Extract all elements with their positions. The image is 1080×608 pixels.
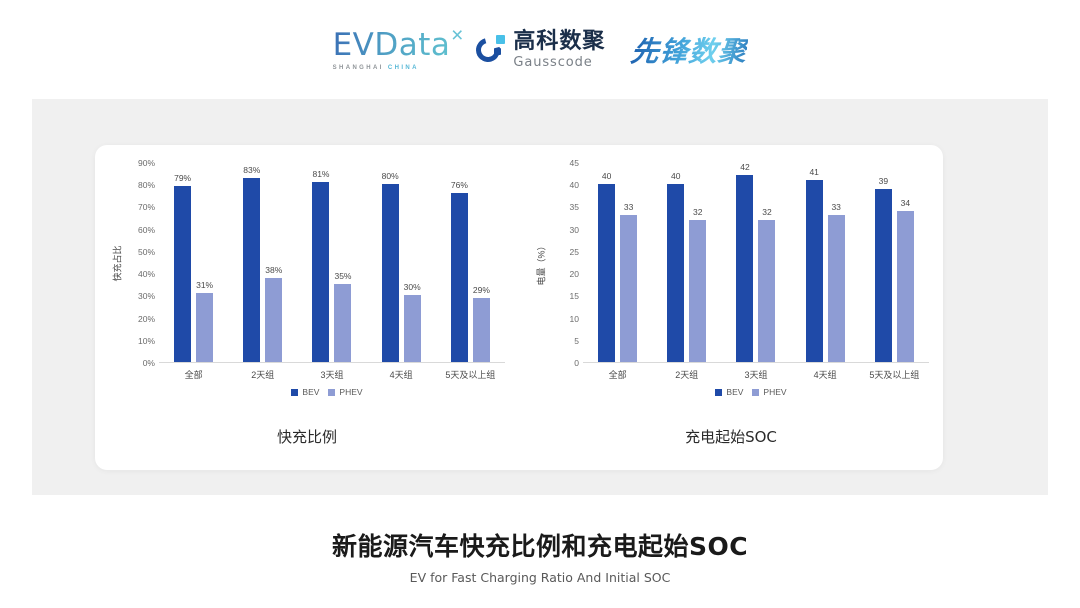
evdata-tagline-city: SHANGHAI xyxy=(333,65,384,71)
footer-title-cn: 新能源汽车快充比例和充电起始SOC xyxy=(0,527,1080,563)
gausscode-logo: 高科数聚 Gausscode xyxy=(476,31,605,69)
legend-label-phev: PHEV xyxy=(763,387,786,397)
legend-item-phev: PHEV xyxy=(752,387,786,397)
bar-value-label: 32 xyxy=(693,207,702,217)
y-axis-tick: 0% xyxy=(143,358,155,368)
bar-phev[interactable]: 29% xyxy=(473,298,490,362)
y-axis-tick: 60% xyxy=(138,225,155,235)
footer-titles: 新能源汽车快充比例和充电起始SOC EV for Fast Charging R… xyxy=(0,527,1080,585)
y-axis-tick: 10% xyxy=(138,336,155,346)
x-axis-label: 3天组 xyxy=(744,368,767,381)
xianfeng-name-cn: 先锋数聚 xyxy=(629,30,749,70)
y-axis-tick: 15 xyxy=(570,291,579,301)
bar-group: 83%38% xyxy=(228,163,297,362)
x-axis-label: 4天组 xyxy=(390,368,413,381)
plot-area-right: 40334032423241333934 xyxy=(583,163,929,363)
bar-value-label: 83% xyxy=(243,165,260,175)
gausscode-square-blue-icon xyxy=(494,48,501,55)
bar-group: 80%30% xyxy=(367,163,436,362)
charts-row: 快充占比 0%10%20%30%40%50%60%70%80%90% 79%31… xyxy=(95,145,943,470)
chart-title-right: 充电起始SOC xyxy=(533,426,929,447)
y-axis-title-left: 快充占比 xyxy=(109,163,125,363)
bar-bev[interactable]: 40 xyxy=(667,184,684,362)
bar-phev[interactable]: 32 xyxy=(758,220,775,362)
y-axis-tick: 35 xyxy=(570,202,579,212)
bar-group: 81%35% xyxy=(297,163,366,362)
bar-bev[interactable]: 83% xyxy=(243,178,260,362)
x-axis-labels-left: 全部2天组3天组4天组5天及以上组 xyxy=(159,363,505,385)
bar-bev[interactable]: 79% xyxy=(174,186,191,362)
x-axis-label: 2天组 xyxy=(251,368,274,381)
bar-bev[interactable]: 39 xyxy=(875,189,892,362)
xianfeng-logo: 先锋数聚 xyxy=(631,30,747,70)
bar-value-label: 38% xyxy=(265,265,282,275)
bar-value-label: 35% xyxy=(334,271,351,281)
legend-label-bev: BEV xyxy=(302,387,319,397)
legend-swatch-phev-icon xyxy=(752,389,759,396)
bar-value-label: 33 xyxy=(831,202,840,212)
gausscode-text: 高科数聚 Gausscode xyxy=(513,31,605,69)
gausscode-name-en: Gausscode xyxy=(513,56,605,69)
x-axis-labels-right: 全部2天组3天组4天组5天及以上组 xyxy=(583,363,929,385)
bar-phev[interactable]: 34 xyxy=(897,211,914,362)
bar-group: 4232 xyxy=(721,163,790,362)
footer-title-en: EV for Fast Charging Ratio And Initial S… xyxy=(0,570,1080,585)
bar-phev[interactable]: 32 xyxy=(689,220,706,362)
bar-bev[interactable]: 81% xyxy=(312,182,329,362)
legend-item-bev: BEV xyxy=(291,387,319,397)
bar-value-label: 42 xyxy=(740,162,749,172)
evdata-x-icon: × xyxy=(451,25,463,46)
y-axis-tick: 30% xyxy=(138,291,155,301)
y-axis-tick: 50% xyxy=(138,247,155,257)
evdata-wordmark: EVData xyxy=(333,27,451,63)
gausscode-square-cyan-icon xyxy=(496,35,505,44)
bar-value-label: 33 xyxy=(624,202,633,212)
x-axis-label: 3天组 xyxy=(320,368,343,381)
chart-fast-charging-ratio: 快充占比 0%10%20%30%40%50%60%70%80%90% 79%31… xyxy=(95,145,519,470)
bar-value-label: 40 xyxy=(671,171,680,181)
bar-bev[interactable]: 42 xyxy=(736,175,753,362)
legend-item-bev: BEV xyxy=(715,387,743,397)
x-axis-label: 2天组 xyxy=(675,368,698,381)
bar-value-label: 34 xyxy=(901,198,910,208)
y-axis-title-right: 电量（%） xyxy=(533,163,549,363)
evdata-tagline: SHANGHAI CHINA xyxy=(333,65,419,71)
bar-value-label: 31% xyxy=(196,280,213,290)
bar-phev[interactable]: 33 xyxy=(620,215,637,362)
bar-value-label: 32 xyxy=(762,207,771,217)
x-axis-label: 全部 xyxy=(609,368,627,381)
evdata-logo: EVData × SHANGHAI CHINA xyxy=(333,30,451,71)
y-axis-tick: 10 xyxy=(570,314,579,324)
y-axis-tick: 45 xyxy=(570,158,579,168)
bar-value-label: 76% xyxy=(451,180,468,190)
bar-value-label: 40 xyxy=(602,171,611,181)
legend-swatch-bev-icon xyxy=(715,389,722,396)
y-axis-tick: 30 xyxy=(570,225,579,235)
gausscode-name-cn: 高科数聚 xyxy=(513,31,605,53)
chart-title-left: 快充比例 xyxy=(109,426,505,447)
bar-phev[interactable]: 35% xyxy=(334,284,351,362)
plot-area-left: 79%31%83%38%81%35%80%30%76%29% xyxy=(159,163,505,363)
bar-phev[interactable]: 38% xyxy=(265,278,282,362)
y-axis-ticks-right: 051015202530354045 xyxy=(549,163,583,363)
bar-group: 76%29% xyxy=(436,163,505,362)
bar-value-label: 80% xyxy=(382,171,399,181)
legend-right: BEV PHEV xyxy=(573,387,929,397)
y-axis-tick: 20% xyxy=(138,314,155,324)
x-axis-label: 5天及以上组 xyxy=(869,368,919,381)
logo-bar: EVData × SHANGHAI CHINA 高科数聚 Gausscode 先… xyxy=(0,0,1080,96)
bar-group: 4033 xyxy=(583,163,652,362)
bar-value-label: 39 xyxy=(879,176,888,186)
y-axis-tick: 40 xyxy=(570,180,579,190)
chart-initial-soc: 电量（%） 051015202530354045 403340324232413… xyxy=(519,145,943,470)
y-axis-tick: 80% xyxy=(138,180,155,190)
bar-group: 4032 xyxy=(652,163,721,362)
y-axis-tick: 5 xyxy=(574,336,579,346)
bar-group: 4133 xyxy=(791,163,860,362)
y-axis-tick: 25 xyxy=(570,247,579,257)
x-axis-label: 5天及以上组 xyxy=(445,368,495,381)
bar-bev[interactable]: 76% xyxy=(451,193,468,362)
evdata-tagline-country: CHINA xyxy=(388,65,419,71)
bar-bev[interactable]: 80% xyxy=(382,184,399,362)
bar-value-label: 81% xyxy=(312,169,329,179)
bar-bev[interactable]: 40 xyxy=(598,184,615,362)
legend-swatch-bev-icon xyxy=(291,389,298,396)
bar-value-label: 79% xyxy=(174,173,191,183)
y-axis-tick: 90% xyxy=(138,158,155,168)
legend-label-phev: PHEV xyxy=(339,387,362,397)
bar-phev[interactable]: 31% xyxy=(196,293,213,362)
y-axis-ticks-left: 0%10%20%30%40%50%60%70%80%90% xyxy=(125,163,159,363)
legend-item-phev: PHEV xyxy=(328,387,362,397)
y-axis-tick: 70% xyxy=(138,202,155,212)
bar-value-label: 41 xyxy=(809,167,818,177)
bar-value-label: 30% xyxy=(404,282,421,292)
bar-value-label: 29% xyxy=(473,285,490,295)
bar-group: 3934 xyxy=(860,163,929,362)
bar-phev[interactable]: 30% xyxy=(404,295,421,362)
bar-phev[interactable]: 33 xyxy=(828,215,845,362)
legend-swatch-phev-icon xyxy=(328,389,335,396)
bar-group: 79%31% xyxy=(159,163,228,362)
x-axis-label: 全部 xyxy=(185,368,203,381)
legend-label-bev: BEV xyxy=(726,387,743,397)
y-axis-tick: 40% xyxy=(138,269,155,279)
legend-left: BEV PHEV xyxy=(149,387,505,397)
y-axis-tick: 20 xyxy=(570,269,579,279)
y-axis-tick: 0 xyxy=(574,358,579,368)
gausscode-mark-icon xyxy=(476,35,506,65)
bar-bev[interactable]: 41 xyxy=(806,180,823,362)
x-axis-label: 4天组 xyxy=(814,368,837,381)
